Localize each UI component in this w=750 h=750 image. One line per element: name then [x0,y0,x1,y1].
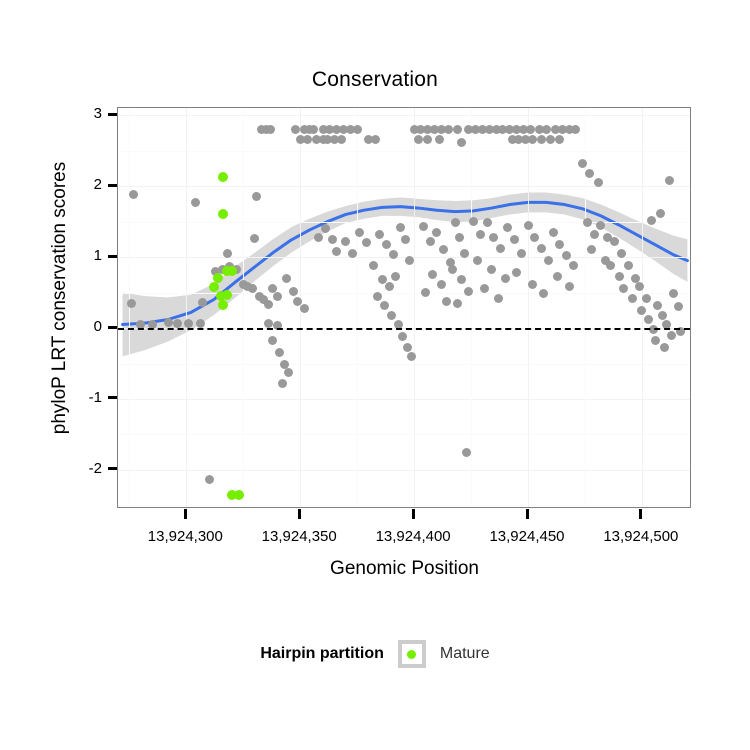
data-point-other [198,298,207,307]
data-point-other [362,238,371,247]
gridline-minor-vertical [471,108,472,507]
data-point-other [524,221,533,230]
data-point-other [291,125,300,134]
data-point-other [328,235,337,244]
gridline-major-horizontal [118,470,690,471]
data-point-other [510,235,519,244]
gridline-minor-horizontal [118,505,690,506]
data-point-other [332,247,341,256]
data-point-other [667,331,676,340]
data-point-other [284,368,293,377]
conservation-chart: Conservation phyloP LRT conservation sco… [0,0,750,750]
zero-reference-line [118,328,690,330]
data-point-mature [222,290,232,300]
gridline-minor-vertical [585,108,586,507]
data-point-other [642,294,651,303]
gridline-minor-horizontal [118,151,690,152]
gridline-major-horizontal [118,399,690,400]
data-point-other [369,261,378,270]
data-point-other [453,299,462,308]
data-point-other [303,135,312,144]
data-point-mature [209,282,219,292]
data-point-other [665,176,674,185]
data-point-other [223,249,232,258]
gridline-minor-vertical [243,108,244,507]
smoother-overlay [118,108,691,508]
data-point-other [385,282,394,291]
data-point-other [321,224,330,233]
gridline-minor-horizontal [118,293,690,294]
data-point-other [444,125,453,134]
y-tick [108,255,117,258]
data-point-other [396,223,405,232]
data-point-other [266,125,275,134]
data-point-other [289,287,298,296]
x-tick-label: 13,924,300 [125,528,245,545]
data-point-other [483,218,492,227]
data-point-other [647,216,656,225]
data-point-other [464,287,473,296]
data-point-other [191,198,200,207]
data-point-other [273,292,282,301]
data-point-other [658,311,667,320]
data-point-other [542,125,551,134]
data-point-other [353,125,362,134]
data-point-other [469,217,478,226]
data-point-other [426,237,435,246]
data-point-other [387,311,396,320]
data-point-other [565,282,574,291]
data-point-other [503,223,512,232]
data-point-other [282,274,291,283]
x-tick [184,509,187,519]
data-point-other [373,292,382,301]
data-point-other [164,318,173,327]
data-point-other [628,294,637,303]
data-point-other [173,319,182,328]
x-tick-label: 13,924,350 [239,528,359,545]
gridline-minor-vertical [357,108,358,507]
gridline-minor-horizontal [118,364,690,365]
legend-label-mature: Mature [440,645,490,663]
y-tick [108,113,117,116]
y-tick [108,184,117,187]
x-tick [298,509,301,519]
legend-title: Hairpin partition [260,645,384,663]
gridline-major-vertical [414,108,415,507]
data-point-other [530,233,539,242]
data-point-other [355,228,364,237]
data-point-mature [218,300,228,310]
data-point-other [382,240,391,249]
gridline-major-horizontal [118,115,690,116]
data-point-other [314,233,323,242]
data-point-other [460,249,469,258]
data-point-mature [218,172,228,182]
x-tick [639,509,642,519]
x-tick-label: 13,924,400 [353,528,473,545]
data-point-other [453,125,462,134]
x-tick-label: 13,924,500 [581,528,701,545]
y-axis-label: phyloP LRT conservation scores [49,88,71,508]
data-point-other [606,261,615,270]
data-point-other [526,125,535,134]
data-point-other [264,300,273,309]
legend-key-mature[interactable] [398,640,426,668]
data-point-other [421,288,430,297]
y-tick-label: 2 [56,176,102,193]
data-point-other [476,230,485,239]
y-tick [108,396,117,399]
data-point-other [624,261,633,270]
data-point-other [437,280,446,289]
data-point-other [457,138,466,147]
data-point-other [196,319,205,328]
data-point-other [442,297,451,306]
gridline-major-vertical [186,108,187,507]
data-point-other [494,294,503,303]
data-point-other [455,233,464,242]
legend: Hairpin partition Mature [0,640,750,668]
data-point-other [528,280,537,289]
y-tick-label: 0 [56,318,102,335]
data-point-other [585,169,594,178]
y-tick-label: 1 [56,247,102,264]
data-point-other [656,209,665,218]
y-tick [108,326,117,329]
data-point-other [300,304,309,313]
page-title: Conservation [0,68,750,92]
data-point-other [278,379,287,388]
data-point-other [205,475,214,484]
x-tick-label: 13,924,450 [467,528,587,545]
data-point-other [419,222,428,231]
x-axis-label: Genomic Position [117,558,692,580]
gridline-major-horizontal [118,186,690,187]
data-point-other [501,274,510,283]
data-point-other [517,249,526,258]
data-point-other [578,159,587,168]
x-tick [526,509,529,519]
y-tick-label: -1 [56,389,102,406]
data-point-other [610,237,619,246]
data-point-other [617,249,626,258]
data-point-other [401,235,410,244]
y-tick-label: 3 [56,105,102,122]
data-point-other [489,233,498,242]
gridline-minor-horizontal [118,434,690,435]
data-point-other [544,256,553,265]
y-tick-label: -2 [56,460,102,477]
data-point-other [380,301,389,310]
x-tick [412,509,415,519]
gridline-major-vertical [528,108,529,507]
data-point-other [596,221,605,230]
y-tick [108,467,117,470]
data-point-other [549,228,558,237]
data-point-mature [234,490,244,500]
plot-panel [117,107,691,508]
legend-dot-icon [407,650,416,659]
data-point-other [615,272,624,281]
data-point-other [462,448,471,457]
data-point-other [590,230,599,239]
data-point-other [674,302,683,311]
